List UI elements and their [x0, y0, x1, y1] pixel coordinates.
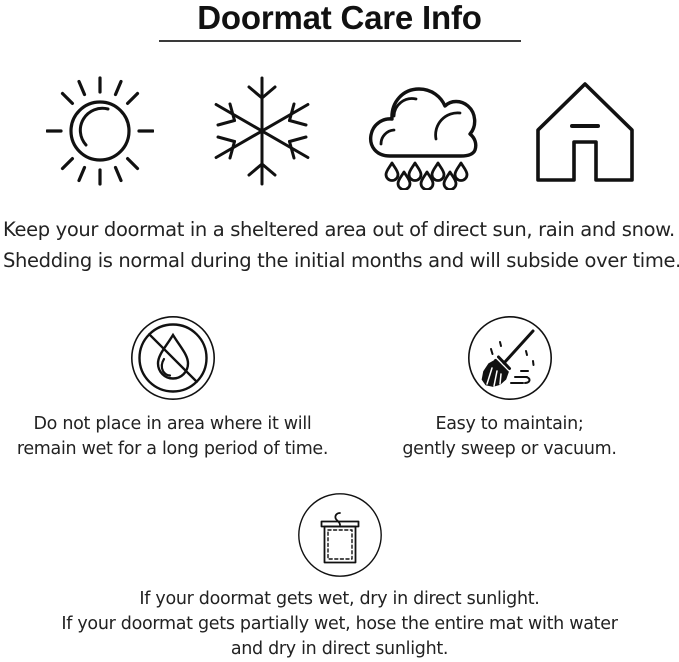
- care-item-no-standing-water: Do not place in area where it will remai…: [0, 315, 345, 462]
- intro-line-2: Shedding is normal during the initial mo…: [3, 245, 679, 276]
- caption-line-1: If your doormat gets wet, dry in direct …: [0, 587, 679, 612]
- care-item-caption: Easy to maintain; gently sweep or vacuum…: [340, 412, 679, 462]
- house-icon: [520, 72, 650, 194]
- caption-line-1: Do not place in area where it will: [0, 412, 345, 437]
- caption-line-2: remain wet for a long period of time.: [0, 437, 345, 462]
- intro-paragraph: Keep your doormat in a sheltered area ou…: [3, 214, 679, 276]
- care-item-caption: If your doormat gets wet, dry in direct …: [0, 587, 679, 662]
- page-title: Doormat Care Info: [0, 0, 679, 35]
- no-water-icon: [130, 315, 216, 401]
- caption-line-2: gently sweep or vacuum.: [340, 437, 679, 462]
- rain-cloud-icon: [358, 72, 488, 194]
- caption-line-2: If your doormat gets partially wet, hose…: [0, 612, 679, 637]
- caption-line-1: Easy to maintain;: [340, 412, 679, 437]
- weather-icon-row: [0, 72, 679, 194]
- intro-line-1: Keep your doormat in a sheltered area ou…: [3, 214, 679, 245]
- title-block: Doormat Care Info: [0, 0, 679, 42]
- title-underline-rule: [159, 40, 521, 42]
- sun-icon: [35, 72, 165, 194]
- hang-to-dry-icon: [297, 492, 383, 578]
- care-item-easy-to-maintain: Easy to maintain; gently sweep or vacuum…: [340, 315, 679, 462]
- snowflake-icon: [197, 72, 327, 194]
- broom-icon: [467, 315, 553, 401]
- care-item-caption: Do not place in area where it will remai…: [0, 412, 345, 462]
- care-item-dry-in-sunlight: If your doormat gets wet, dry in direct …: [0, 492, 679, 662]
- caption-line-3: and dry in direct sunlight.: [0, 637, 679, 662]
